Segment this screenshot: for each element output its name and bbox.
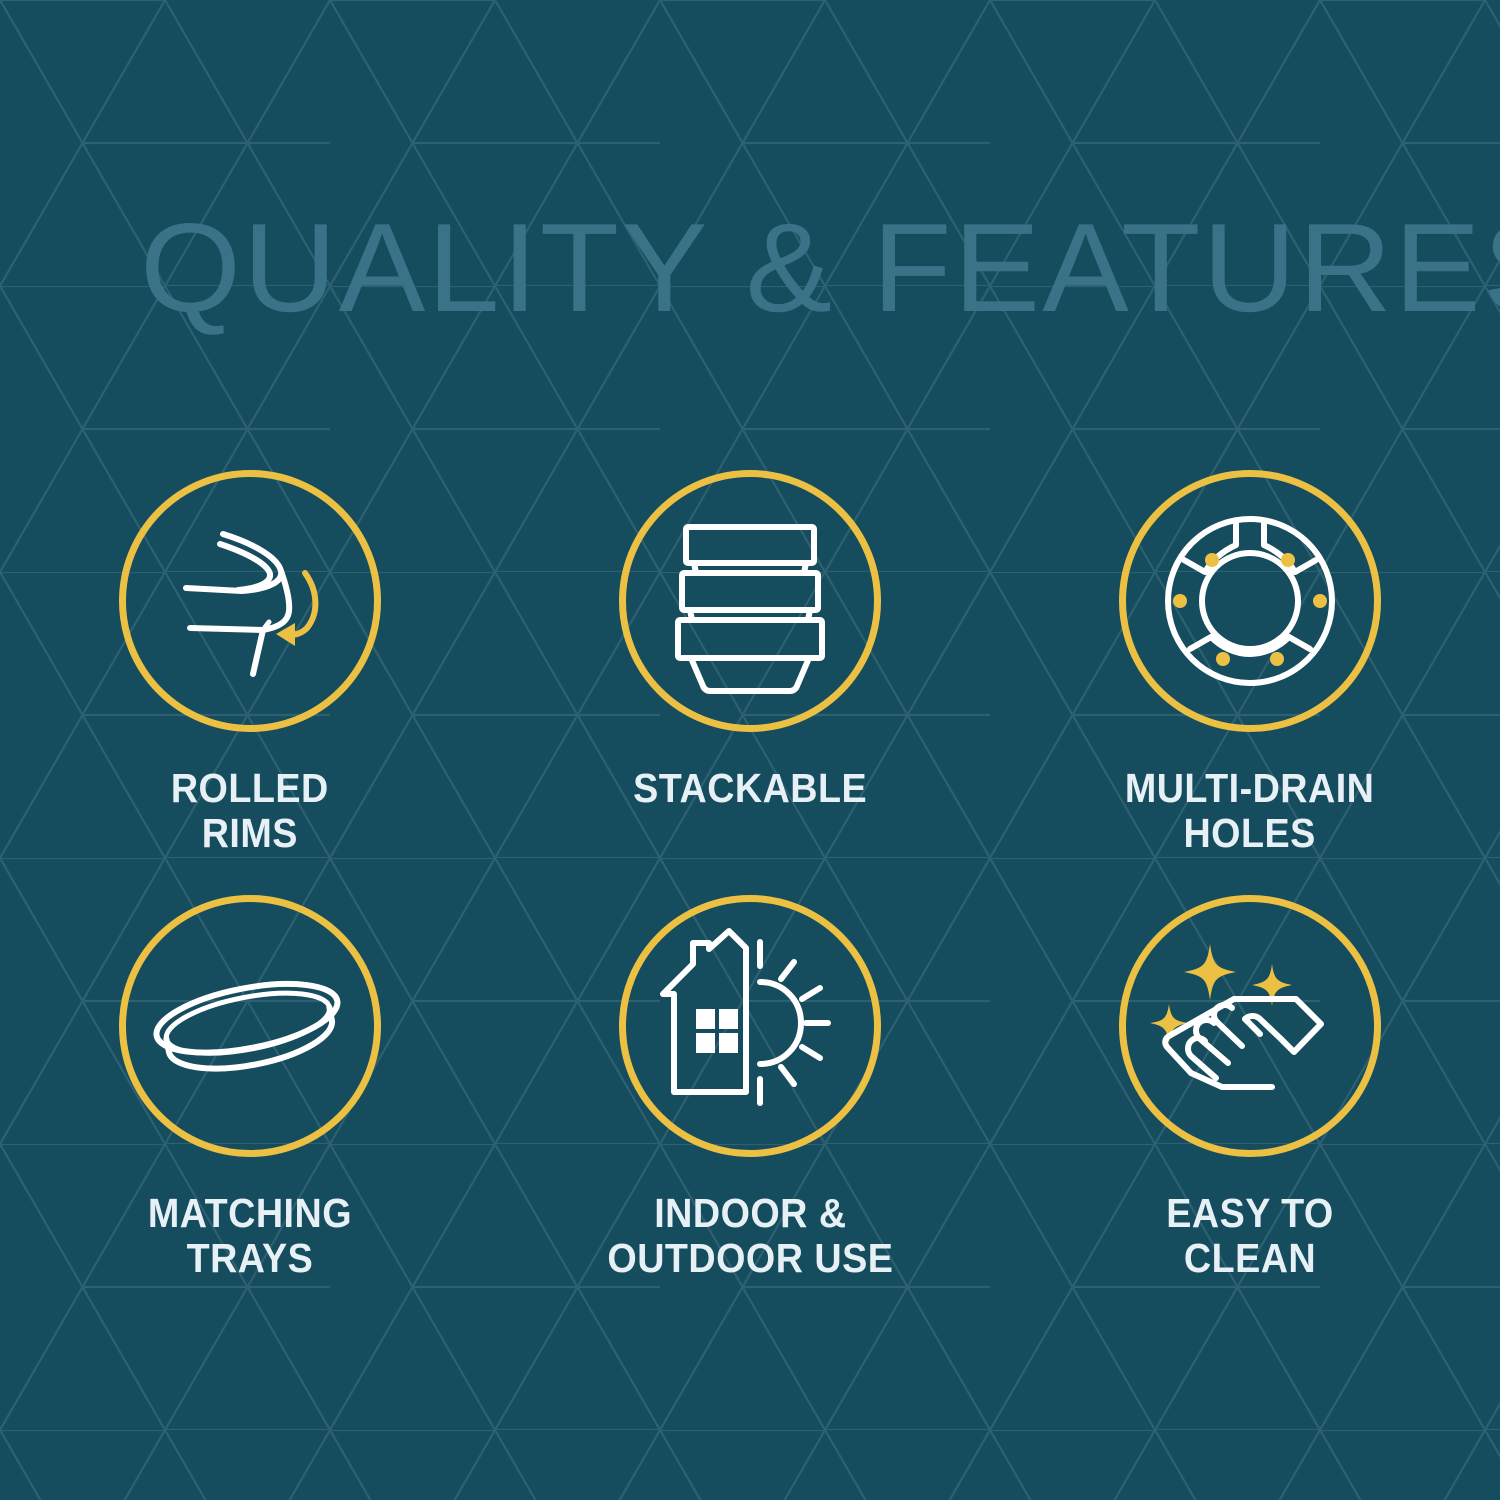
feature-label: ROLLED RIMS [171, 766, 329, 856]
feature-matching-trays[interactable]: MATCHING TRAYS [0, 895, 500, 1320]
feature-rolled-rims[interactable]: ROLLED RIMS [0, 470, 500, 895]
house-sun-icon-ring [619, 895, 881, 1157]
feature-label: MATCHING TRAYS [148, 1191, 352, 1281]
stacked-pots-icon-ring [619, 470, 881, 732]
tray-saucer-icon [150, 926, 350, 1126]
page-title: QUALITY & FEATURES [140, 205, 1500, 331]
feature-label: EASY TO CLEAN [1166, 1191, 1333, 1281]
feature-grid: ROLLED RIMS STACKABLE [0, 470, 1500, 1320]
tray-saucer-icon-ring [119, 895, 381, 1157]
rolled-rim-icon-ring [119, 470, 381, 732]
stacked-pots-icon [650, 501, 850, 701]
feature-easy-to-clean[interactable]: EASY TO CLEAN [1000, 895, 1500, 1320]
rolled-rim-icon [150, 501, 350, 701]
feature-label: MULTI-DRAIN HOLES [1125, 766, 1374, 856]
feature-indoor-outdoor-use[interactable]: INDOOR & OUTDOOR USE [500, 895, 1000, 1320]
feature-label: INDOOR & OUTDOOR USE [607, 1191, 893, 1281]
quality-and-features-infographic: QUALITY & FEATURES ROLLED RIMS [0, 0, 1500, 1500]
hand-wipe-sparkle-icon [1150, 926, 1350, 1126]
drain-holes-icon [1150, 501, 1350, 701]
feature-label: STACKABLE [633, 766, 867, 811]
drain-holes-icon-ring [1119, 470, 1381, 732]
hand-wipe-sparkle-icon-ring [1119, 895, 1381, 1157]
house-sun-icon [650, 926, 850, 1126]
feature-stackable[interactable]: STACKABLE [500, 470, 1000, 895]
feature-multi-drain-holes[interactable]: MULTI-DRAIN HOLES [1000, 470, 1500, 895]
